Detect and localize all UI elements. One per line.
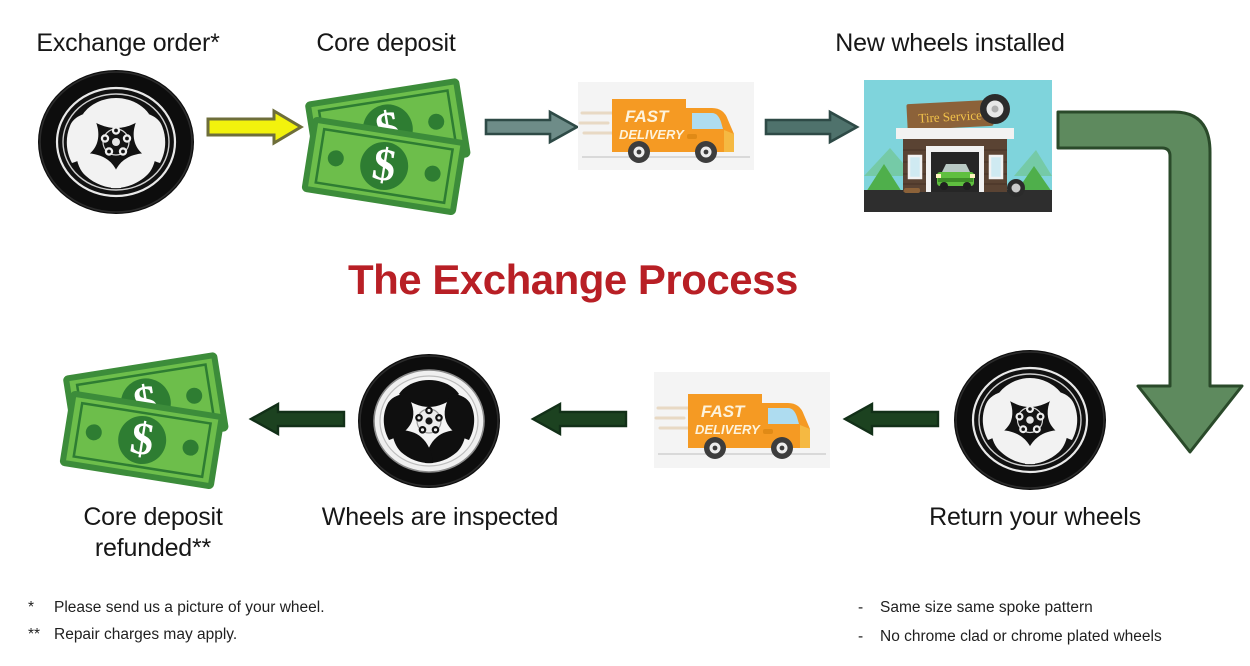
footnotes: * Please send us a picture of your wheel…: [28, 594, 508, 648]
requirement-text: Same size same spoke pattern: [880, 594, 1093, 623]
step-label-wheels-inspected: Wheels are inspected: [300, 502, 580, 533]
truck-text-delivery: DELIVERY: [619, 127, 685, 142]
diagram-canvas: Exchange order* Core deposit New wheels …: [0, 0, 1250, 666]
footnote-text: Repair charges may apply.: [54, 621, 237, 648]
arrow-shipping-to-inspect: [528, 400, 628, 438]
footnote-row: ** Repair charges may apply.: [28, 621, 508, 648]
arrow-deposit-to-shipping: [484, 108, 580, 146]
step-label-exchange-order: Exchange order*: [8, 28, 248, 59]
wheel-return-icon: [952, 348, 1108, 492]
delivery-truck-icon: FAST DELIVERY: [578, 82, 754, 170]
cash-refund-icon: $ $: [58, 348, 238, 482]
wheel-dark-icon: [36, 68, 196, 216]
step-label-return-your-wheels: Return your wheels: [890, 502, 1180, 533]
requirements: - Same size same spoke pattern - No chro…: [858, 594, 1238, 651]
footnote-text: Please send us a picture of your wheel.: [54, 594, 325, 621]
truck-text-fast: FAST: [625, 107, 670, 126]
step-label-core-deposit-refunded: Core deposit refunded**: [30, 502, 276, 565]
tire-service-shop-icon: Tire Service: [864, 80, 1052, 212]
footnote-row: * Please send us a picture of your wheel…: [28, 594, 508, 621]
svg-text:DELIVERY: DELIVERY: [695, 422, 761, 437]
step-label-core-deposit: Core deposit: [278, 28, 494, 59]
arrow-return-to-shipping: [840, 400, 940, 438]
svg-text:FAST: FAST: [701, 402, 746, 421]
requirement-text: No chrome clad or chrome plated wheels: [880, 623, 1162, 652]
footnote-mark: **: [28, 621, 54, 648]
arrow-order-to-deposit: [206, 108, 304, 146]
cash-icon: $ $: [300, 74, 480, 208]
arrow-inspect-to-refund: [246, 400, 346, 438]
wheel-light-icon: [356, 352, 502, 490]
requirement-mark: -: [858, 594, 880, 623]
step-label-new-wheels-installed: New wheels installed: [800, 28, 1100, 59]
page-title: The Exchange Process: [348, 256, 798, 304]
arrow-shipping-to-install: [764, 108, 860, 146]
requirement-row: - Same size same spoke pattern: [858, 594, 1238, 623]
footnote-mark: *: [28, 594, 54, 621]
requirement-mark: -: [858, 623, 880, 652]
delivery-truck-return-icon: FAST DELIVERY: [654, 372, 830, 468]
requirement-row: - No chrome clad or chrome plated wheels: [858, 623, 1238, 652]
